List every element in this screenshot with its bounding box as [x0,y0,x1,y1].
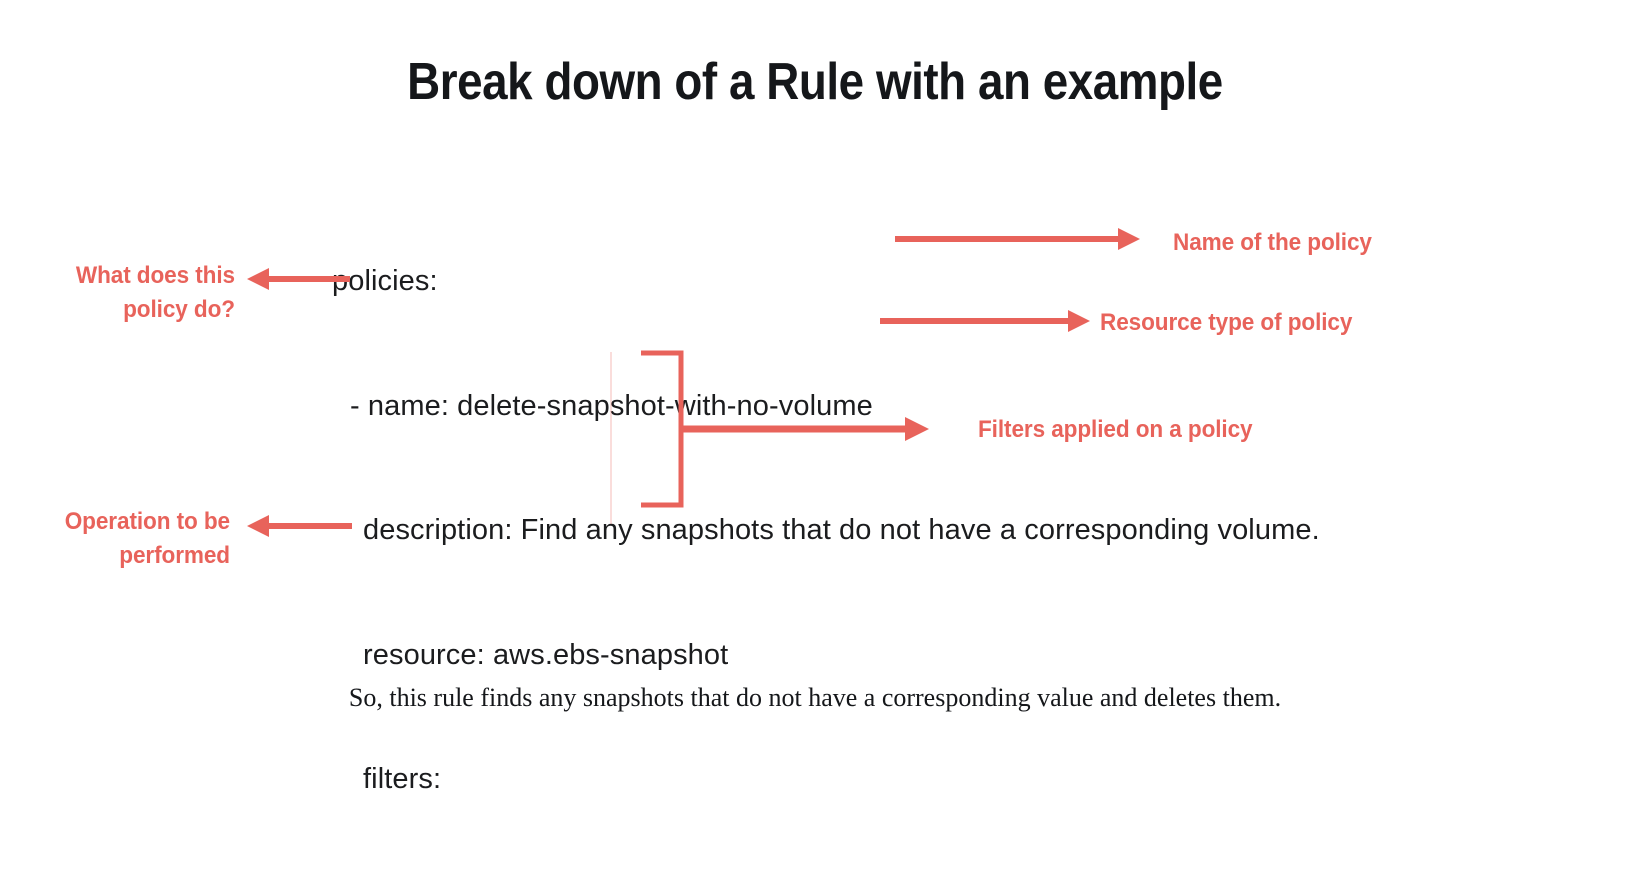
annotation-filters-applied: Filters applied on a policy [978,413,1316,447]
summary-caption: So, this rule finds any snapshots that d… [0,683,1630,713]
annotation-operation-performed: Operation to be performed [33,505,230,573]
slide-canvas: Break down of a Rule with an example pol… [0,0,1630,872]
code-line: filters: [332,759,1320,801]
annotation-what-does-policy-do: What does this policy do? [33,259,235,327]
code-line: policies: [332,261,1320,303]
code-line: description: Find any snapshots that do … [332,510,1320,552]
description-arrow-head-icon [247,268,269,290]
actions-arrow-head-icon [247,515,269,537]
yaml-code-block: policies: - name: delete-snapshot-with-n… [332,178,1320,872]
page-title: Break down of a Rule with an example [98,52,1532,112]
code-line: resource: aws.ebs-snapshot [332,635,1320,677]
annotation-name-of-policy: Name of the policy [1173,226,1455,260]
annotation-resource-type: Resource type of policy [1100,306,1420,340]
